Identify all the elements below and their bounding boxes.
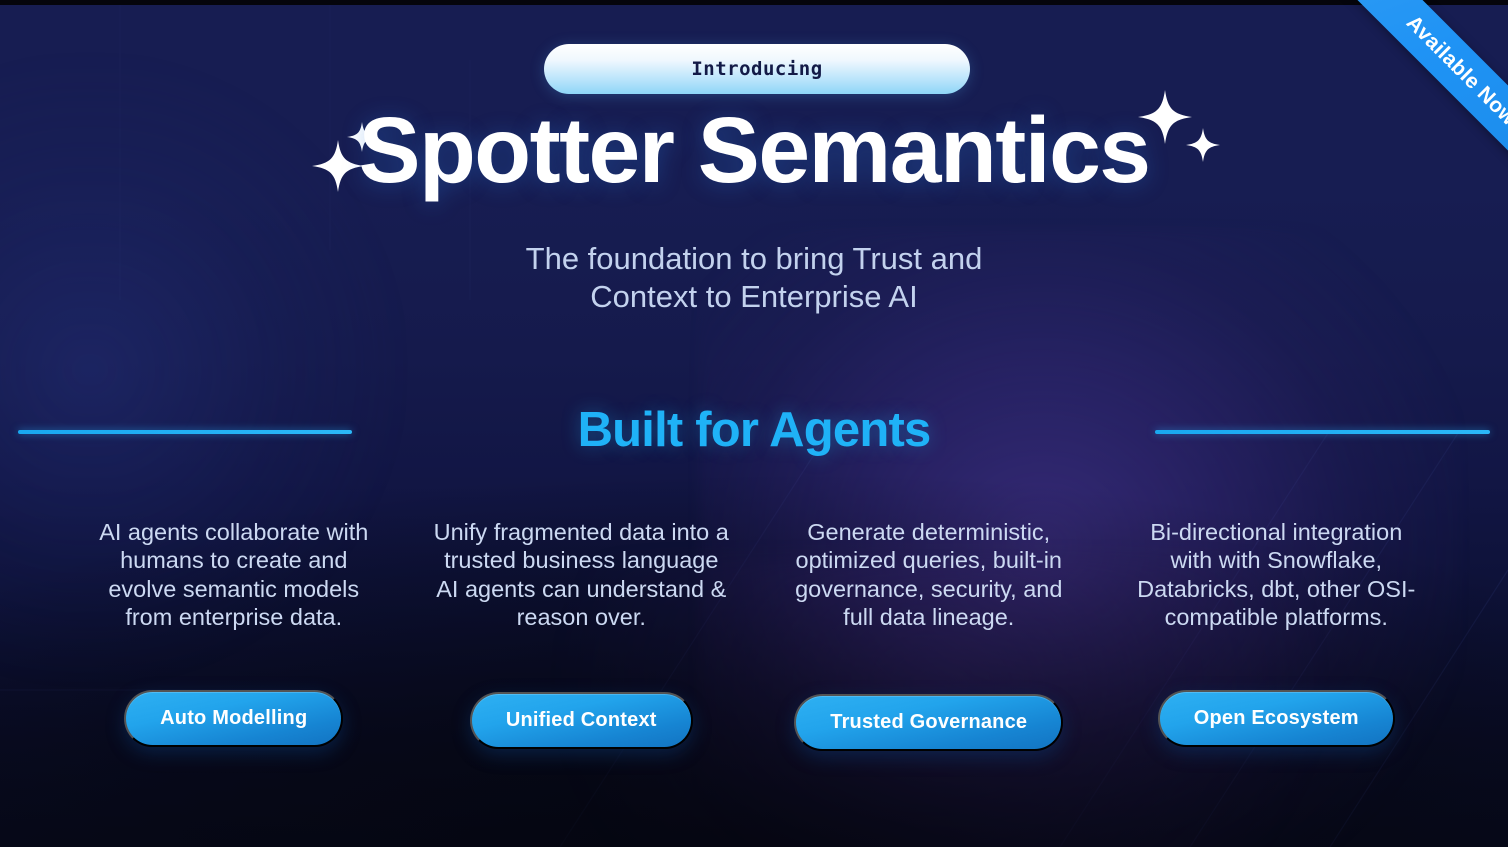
feature-description: Unify fragmented data into a trusted bus… [431,518,731,632]
feature-column: Bi-directional integration with with Sno… [1103,518,1451,632]
feature-description: Generate deterministic, optimized querie… [779,518,1079,632]
chip-open-ecosystem[interactable]: Open Ecosystem [1158,690,1395,747]
chip-cell: Trusted Governance [755,690,1103,747]
promo-hero-page: Available Now Introducing Spotter Semant… [0,0,1508,847]
chip-auto-modelling[interactable]: Auto Modelling [124,690,343,747]
feature-description: Bi-directional integration with with Sno… [1126,518,1426,632]
chip-cell: Open Ecosystem [1103,690,1451,747]
feature-description: AI agents collaborate with humans to cre… [84,518,384,632]
feature-column: Generate deterministic, optimized querie… [755,518,1103,632]
top-black-bar [0,0,1508,5]
chip-cell: Auto Modelling [60,690,408,747]
chip-cell: Unified Context [408,690,756,747]
chip-unified-context[interactable]: Unified Context [470,692,693,749]
chip-trusted-governance[interactable]: Trusted Governance [794,694,1063,751]
feature-columns: AI agents collaborate with humans to cre… [60,518,1450,632]
feature-chip-row: Auto Modelling Unified Context Trusted G… [60,690,1450,747]
page-subtitle-line-1: The foundation to bring Trust and [0,240,1508,278]
page-subtitle: The foundation to bring Trust and Contex… [0,240,1508,317]
section-heading: Built for Agents [0,402,1508,458]
introducing-badge: Introducing [544,44,970,94]
introducing-badge-label: Introducing [691,58,822,80]
page-title: Spotter Semantics [0,102,1508,200]
feature-column: Unify fragmented data into a trusted bus… [408,518,756,632]
feature-column: AI agents collaborate with humans to cre… [60,518,408,632]
page-subtitle-line-2: Context to Enterprise AI [0,278,1508,316]
